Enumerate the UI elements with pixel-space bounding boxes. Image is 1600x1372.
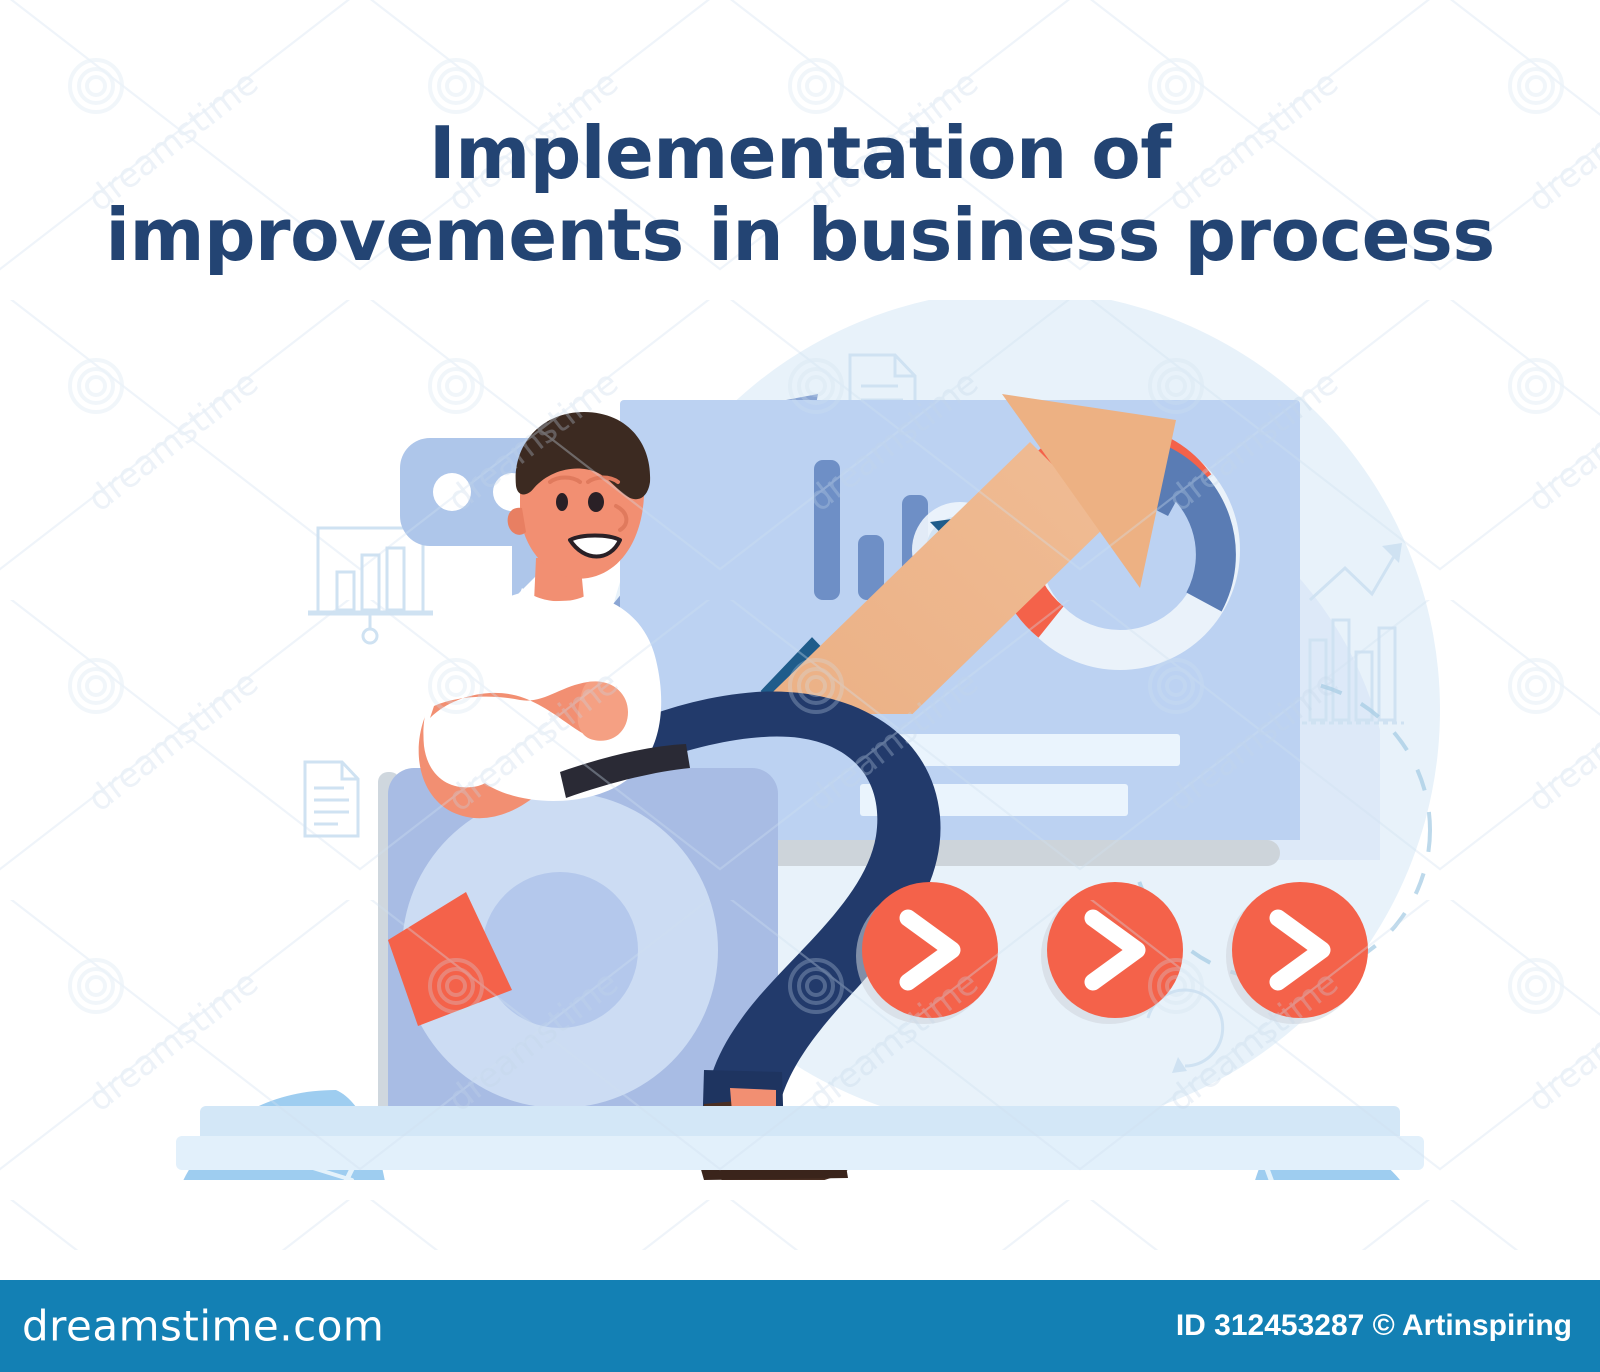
- document-icon-left: [305, 762, 358, 836]
- page-title-line-2: improvements in business process: [0, 194, 1600, 276]
- footer-bar: dreamstime.com ID 312453287 © Artinspiri…: [0, 1280, 1600, 1372]
- speech-dot-1: [433, 473, 471, 511]
- main-illustration: [0, 300, 1600, 1180]
- bar-1: [814, 460, 840, 600]
- ground-platform: [176, 1106, 1424, 1170]
- illustration-stage: Implementation of improvements in busine…: [0, 0, 1600, 1372]
- image-credit: ID 312453287 © Artinspiring: [1176, 1309, 1572, 1343]
- character-sleeve-left: [423, 648, 503, 787]
- dreamstime-logo[interactable]: dreamstime.com: [22, 1302, 384, 1351]
- page-title-line-1: Implementation of: [0, 112, 1600, 194]
- character-eye-right: [588, 492, 604, 512]
- character-eye-left: [556, 493, 568, 511]
- presentation-board-icon: [308, 528, 433, 643]
- page-title: Implementation of improvements in busine…: [0, 112, 1600, 276]
